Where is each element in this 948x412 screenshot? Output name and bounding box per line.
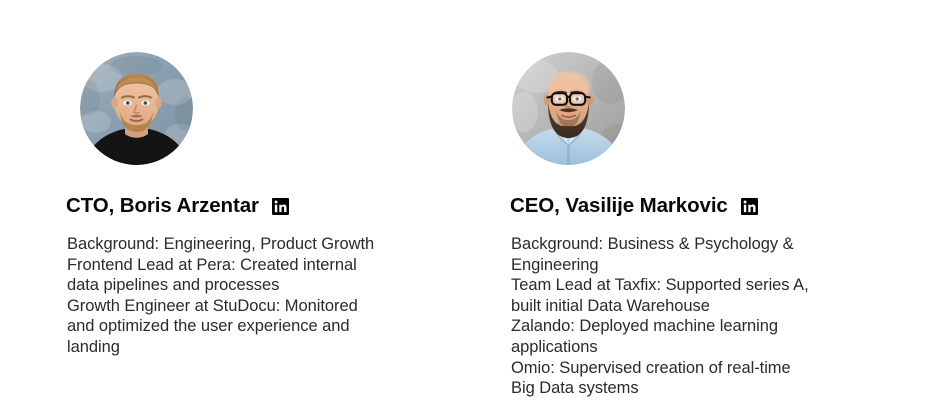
bio-line: Zalando: Deployed machine learning — [511, 316, 863, 337]
bio-line: Big Data systems — [511, 378, 863, 399]
linkedin-icon[interactable] — [272, 198, 289, 215]
avatar-photo — [80, 52, 193, 165]
bio-line: and optimized the user experience and — [67, 316, 422, 337]
bio-line: Frontend Lead at Pera: Created internal — [67, 255, 422, 276]
team-profiles-section: CTO, Boris Arzentar Background: Engineer… — [0, 0, 948, 412]
profile-heading-cto: CTO, Boris Arzentar — [66, 196, 289, 217]
profile-heading-ceo: CEO, Vasilije Markovic — [510, 196, 758, 217]
bio-line: Background: Engineering, Product Growth — [67, 234, 422, 255]
bio-line: Background: Business & Psychology & — [511, 234, 863, 255]
page-title-cto: CTO, Boris Arzentar — [66, 196, 259, 217]
profile-bio-ceo: Background: Business & Psychology & Engi… — [511, 234, 863, 399]
avatar-photo — [512, 52, 625, 165]
bio-line: Omio: Supervised creation of real-time — [511, 358, 863, 379]
bio-line: Engineering — [511, 255, 863, 276]
bio-line: landing — [67, 337, 422, 358]
bio-line: applications — [511, 337, 863, 358]
page-title-ceo: CEO, Vasilije Markovic — [510, 196, 728, 217]
bio-line: Team Lead at Taxfix: Supported series A, — [511, 275, 863, 296]
bio-line: Growth Engineer at StuDocu: Monitored — [67, 296, 422, 317]
bio-line: data pipelines and processes — [67, 275, 422, 296]
bio-line: built initial Data Warehouse — [511, 296, 863, 317]
avatar-vasilije-markovic — [512, 52, 625, 165]
avatar-boris-arzentar — [80, 52, 193, 165]
profile-bio-cto: Background: Engineering, Product Growth … — [67, 234, 422, 358]
linkedin-icon[interactable] — [741, 198, 758, 215]
